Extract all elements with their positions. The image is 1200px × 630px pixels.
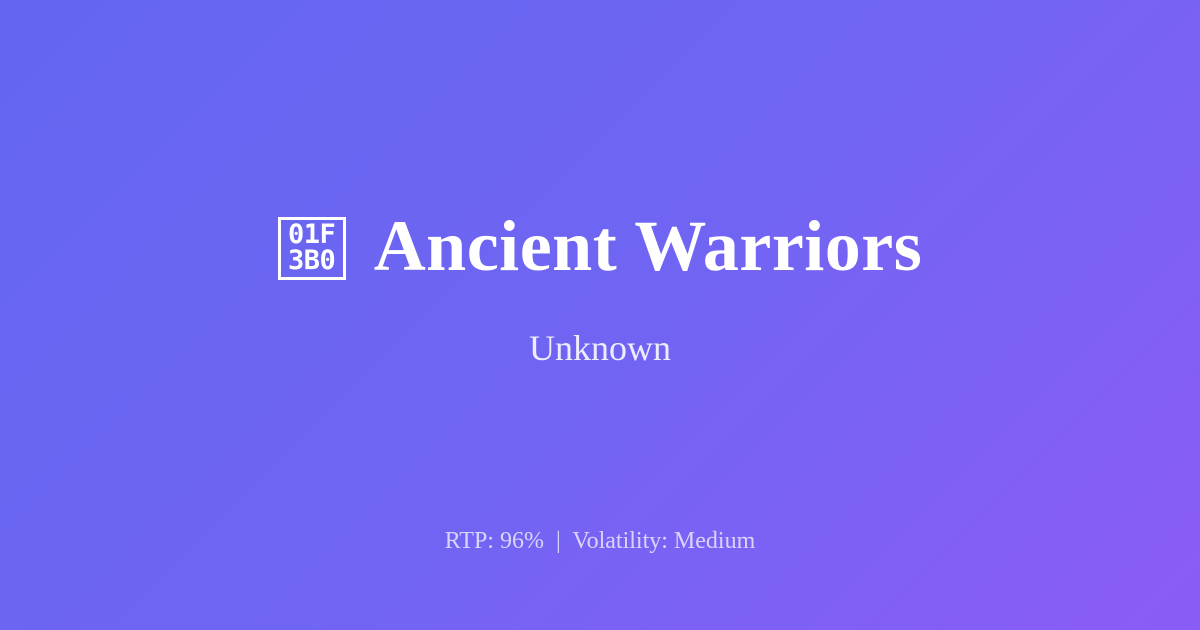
page-title: Ancient Warriors	[374, 210, 923, 282]
rtp-value: RTP: 96%	[445, 528, 544, 554]
provider-name: Unknown	[529, 330, 671, 366]
slot-machine-icon: 01F 3B0	[278, 217, 346, 280]
meta-separator: |	[550, 528, 567, 554]
game-meta-line: RTP: 96% | Volatility: Medium	[0, 527, 1200, 556]
title-row: 01F 3B0 Ancient Warriors	[278, 210, 923, 282]
tofu-codepoint-low: 3B0	[288, 248, 335, 274]
volatility-value: Volatility: Medium	[572, 528, 755, 554]
